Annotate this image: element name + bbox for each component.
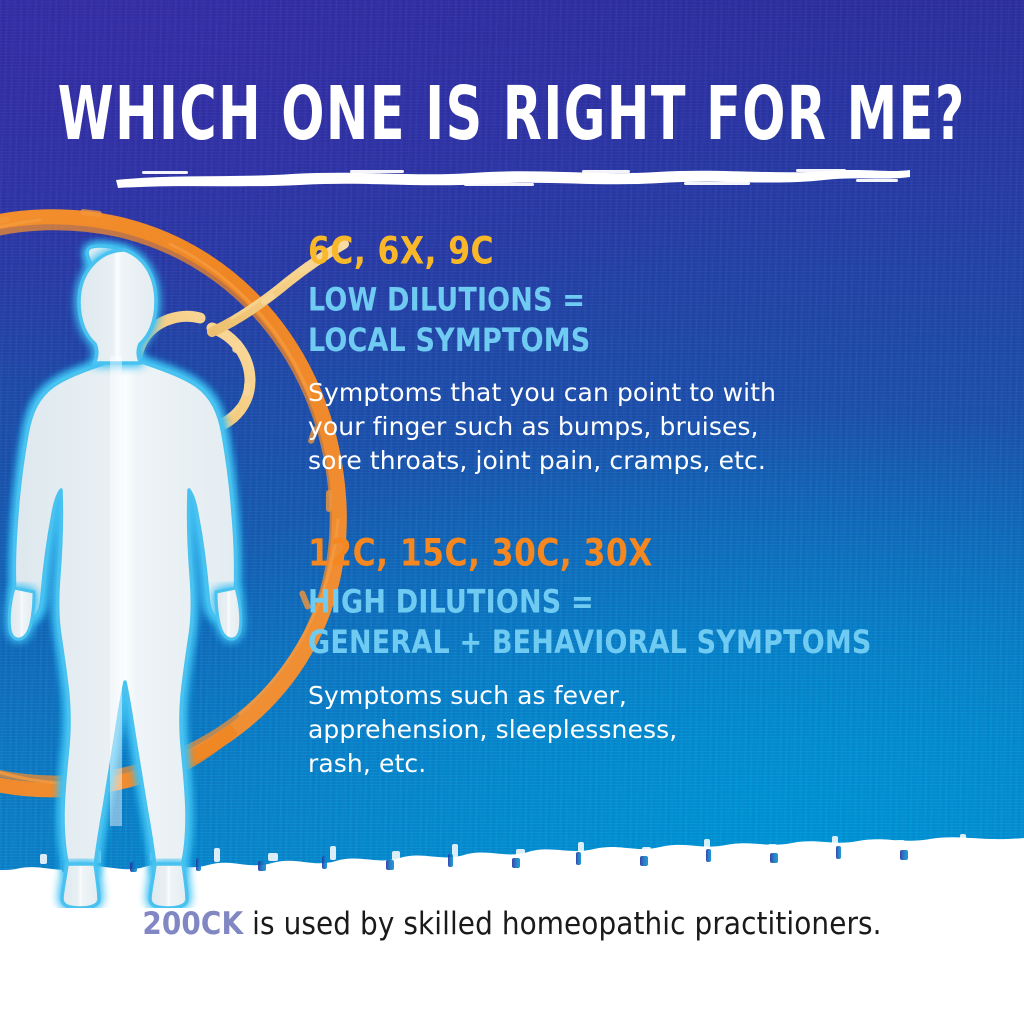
dose-label-high: 12C, 15C, 30C, 30X	[308, 534, 968, 574]
infographic-canvas: WHICH ONE IS RIGHT FOR ME?	[0, 0, 1024, 1024]
dilution-block-low: 6C, 6X, 9C LOW DILUTIONS = LOCAL SYMPTOM…	[308, 232, 968, 478]
dilution-description-high: Symptoms such as fever, apprehension, sl…	[308, 679, 968, 781]
dose-label-low: 6C, 6X, 9C	[308, 232, 968, 272]
footer-note: 200CK is used by skilled homeopathic pra…	[0, 906, 1024, 942]
title-container: WHICH ONE IS RIGHT FOR ME?	[0, 78, 1024, 135]
footer-text: is used by skilled homeopathic practitio…	[243, 906, 881, 942]
title-underline-brush-stroke	[112, 164, 912, 190]
footer-highlight-200ck: 200CK	[142, 906, 243, 942]
dilution-description-low: Symptoms that you can point to with your…	[308, 376, 968, 478]
dilution-block-high: 12C, 15C, 30C, 30X HIGH DILUTIONS = GENE…	[308, 534, 968, 780]
dilution-subtitle-low: LOW DILUTIONS = LOCAL SYMPTOMS	[308, 281, 968, 361]
page-title: WHICH ONE IS RIGHT FOR ME?	[58, 78, 966, 152]
dilution-subtitle-high: HIGH DILUTIONS = GENERAL + BEHAVIORAL SY…	[308, 583, 968, 663]
content-column: 6C, 6X, 9C LOW DILUTIONS = LOCAL SYMPTOM…	[308, 232, 968, 781]
human-body-silhouette-icon	[0, 236, 264, 908]
